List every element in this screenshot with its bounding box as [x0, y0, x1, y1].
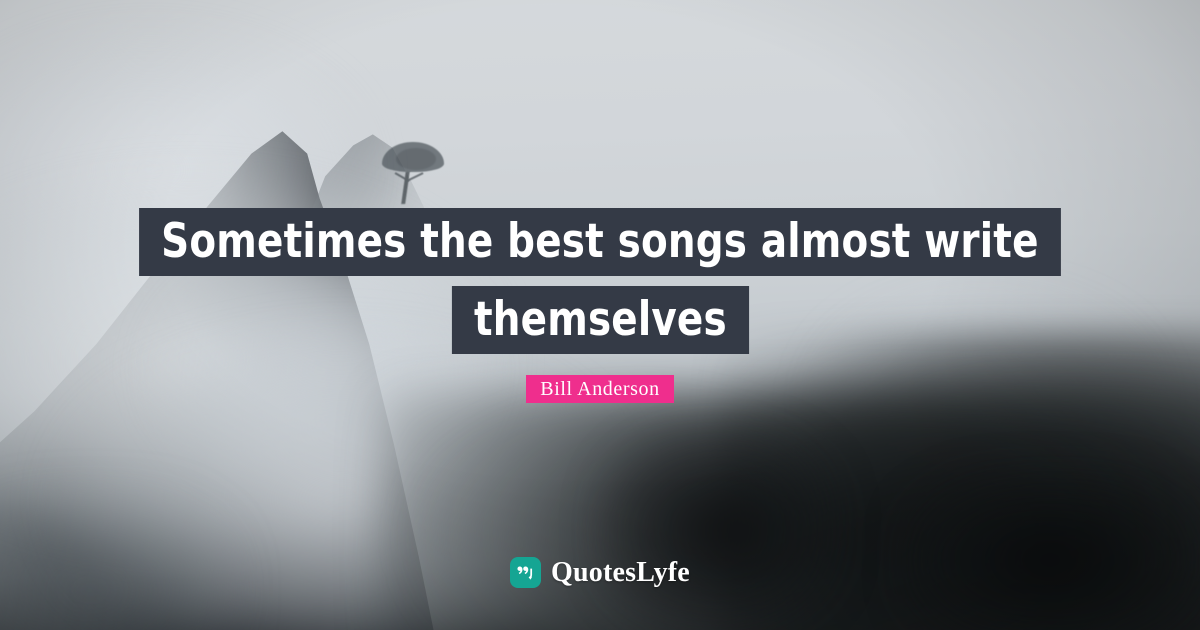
quote-line-row: themselves [0, 286, 1200, 354]
quote-line-1: Sometimes the best songs almost write [139, 208, 1061, 276]
quote-bubble-icon [510, 557, 541, 588]
brand-name-text: QuotesLyfe [551, 557, 690, 588]
quote-card: Sometimes the best songs almost write th… [0, 0, 1200, 630]
quote-line-row: Sometimes the best songs almost write [0, 208, 1200, 276]
brand-logo[interactable]: QuotesLyfe [0, 557, 1200, 588]
author-attribution: Bill Anderson [0, 375, 1200, 403]
card-content: Sometimes the best songs almost write th… [0, 0, 1200, 630]
quote-text: Sometimes the best songs almost write th… [0, 208, 1200, 354]
author-name-badge: Bill Anderson [526, 375, 673, 403]
quote-line-2: themselves [451, 286, 748, 354]
